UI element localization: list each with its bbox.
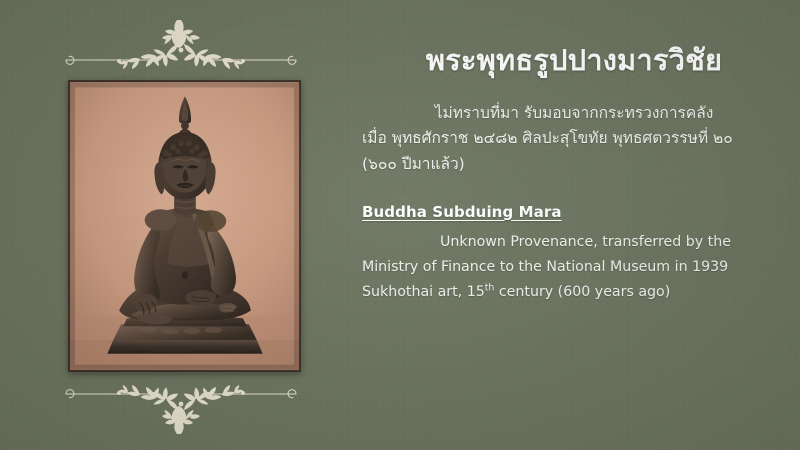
text-panel: พระพุทธรูปปางมารวิชัย ไม่ทราบที่มา รับมอ… (362, 0, 786, 450)
english-line-3-prefix: Sukhothai art, 15 (362, 284, 485, 300)
english-line-3: Sukhothai art, 15th century (600 years a… (362, 284, 670, 300)
english-line-2: Ministry of Finance to the National Muse… (362, 259, 728, 275)
thai-line-1: ไม่ทราบที่มา รับมอบจากกระทรวงการคลัง (362, 101, 786, 126)
ornament-bottom (52, 378, 310, 440)
thai-description: ไม่ทราบที่มา รับมอบจากกระทรวงการคลัง เมื… (362, 101, 786, 176)
buddha-photograph (68, 80, 301, 372)
thai-line-3: (๖๐๐ ปีมาแล้ว) (362, 152, 786, 177)
english-line-1: Unknown Provenance, transferred by the (362, 230, 786, 255)
ordinal-suffix: th (485, 283, 495, 294)
thai-line-2: เมื่อ พุทธศักราช ๒๔๘๒ ศิลปะสุโขทัย พุทธศ… (362, 126, 786, 151)
buddha-statue-illustration (70, 82, 299, 370)
english-heading: Buddha Subduing Mara (362, 203, 786, 221)
ornament-top (52, 14, 310, 76)
page-title: พระพุทธรูปปางมารวิชัย (362, 44, 786, 77)
english-line-3-suffix: century (600 years ago) (494, 284, 670, 300)
english-description: Unknown Provenance, transferred by the M… (362, 230, 786, 306)
